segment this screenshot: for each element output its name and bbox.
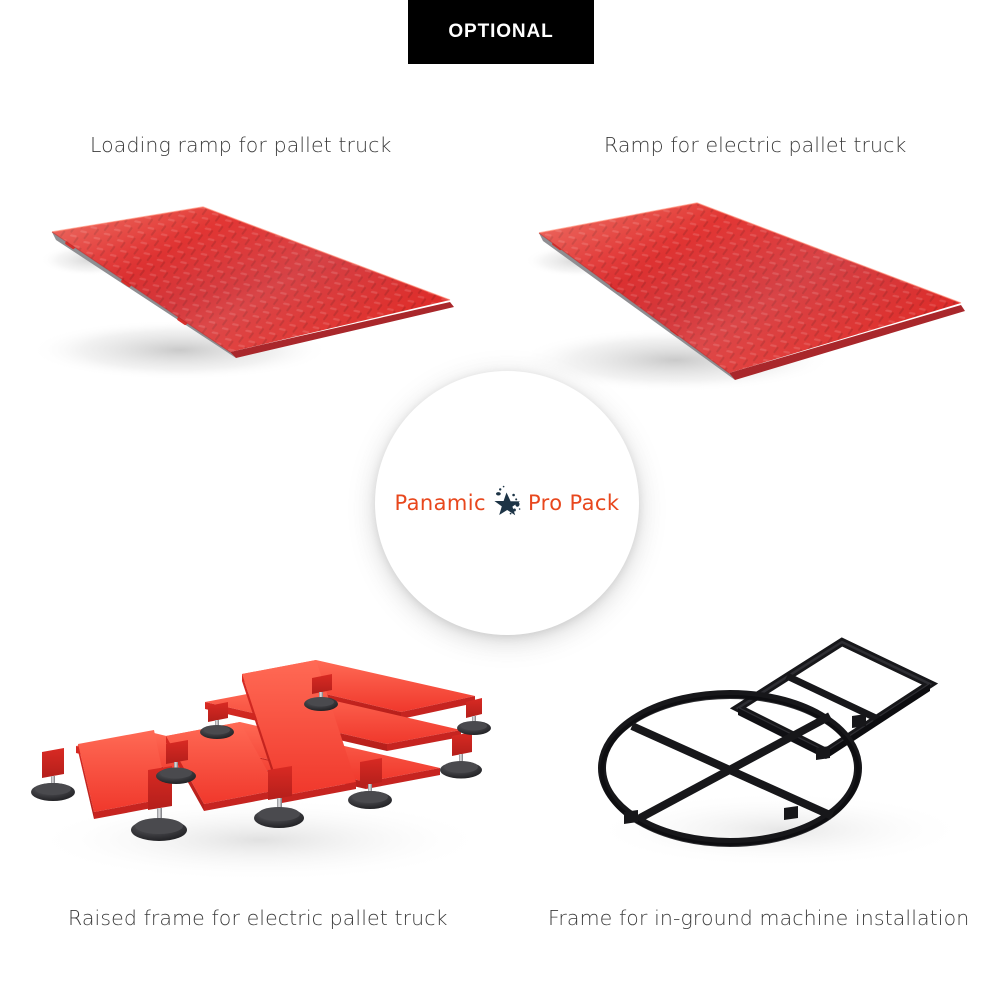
caption-frame-in-ground-machine-installation: Frame for in-ground machine installation (548, 906, 969, 930)
optional-banner-label: OPTIONAL (448, 21, 553, 43)
image-loading-ramp-pallet-truck (30, 180, 480, 410)
image-raised-frame-electric-pallet-truck (20, 640, 490, 890)
caption-raised-frame-electric-pallet-truck: Raised frame for electric pallet truck (68, 906, 448, 930)
logo-badge: Panamic (375, 371, 639, 635)
logo: Panamic (392, 473, 622, 533)
optional-banner: OPTIONAL (408, 0, 594, 64)
image-ramp-electric-pallet-truck (515, 175, 985, 415)
image-frame-in-ground-machine-installation (580, 630, 980, 880)
logo-word-pro-pack: Pro Pack (528, 491, 620, 515)
page-root: OPTIONAL Loading ramp for pallet truck R… (0, 0, 1000, 1000)
caption-ramp-electric-pallet-truck: Ramp for electric pallet truck (604, 133, 906, 157)
logo-word-panamic: Panamic (395, 491, 486, 515)
caption-loading-ramp-pallet-truck: Loading ramp for pallet truck (90, 133, 392, 157)
star-icon (486, 482, 528, 524)
